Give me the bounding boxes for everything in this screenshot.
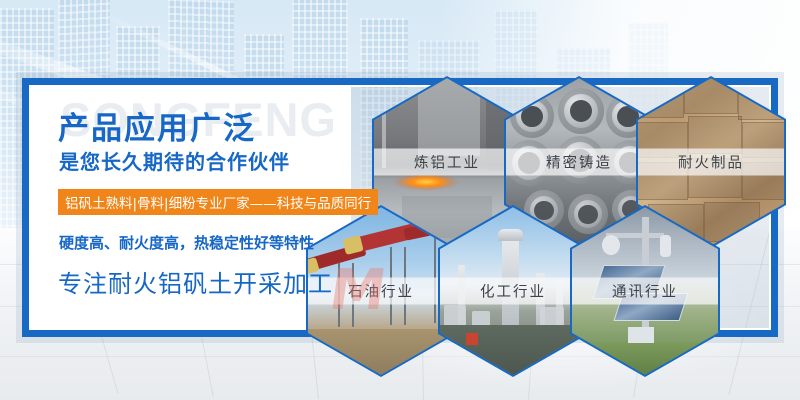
hexagon-label-chemical: 化工行业 xyxy=(480,280,546,301)
banner-subtitle: 是您长久期待的合作伙伴 xyxy=(59,146,290,175)
hexagon-label-band: 耐火制品 xyxy=(638,148,784,175)
hexagon-label-refractory: 耐火制品 xyxy=(678,151,744,172)
highlight-bar: 铝矾土熟料|骨料|细粉专业厂家——科技与品质同行 xyxy=(58,189,378,215)
hexagon-label-band: 精密铸造 xyxy=(506,148,652,175)
m-logo-watermark: M xyxy=(325,258,390,323)
hexagon-label-band: 化工行业 xyxy=(440,277,586,304)
hexagon-label-casting: 精密铸造 xyxy=(546,151,612,172)
hexagon-label-band: 炼铝工业 xyxy=(374,148,520,175)
tagline-text: 专注耐火铝矾土开采加工 xyxy=(58,264,333,299)
promotional-banner: 炼铝工业 精密铸造 xyxy=(0,0,800,400)
hexagon-label-band: 通讯行业 xyxy=(572,277,718,304)
hexagon-label-smelting: 炼铝工业 xyxy=(414,151,480,172)
hexagon-label-telecom: 通讯行业 xyxy=(612,280,678,301)
highlight-bar-text: 铝矾土熟料|骨料|细粉专业厂家——科技与品质同行 xyxy=(65,192,371,212)
page-title: 产品应用广泛 xyxy=(58,103,256,148)
feature-text: 硬度高、耐火度高，热稳定性好等特性 xyxy=(59,232,314,253)
